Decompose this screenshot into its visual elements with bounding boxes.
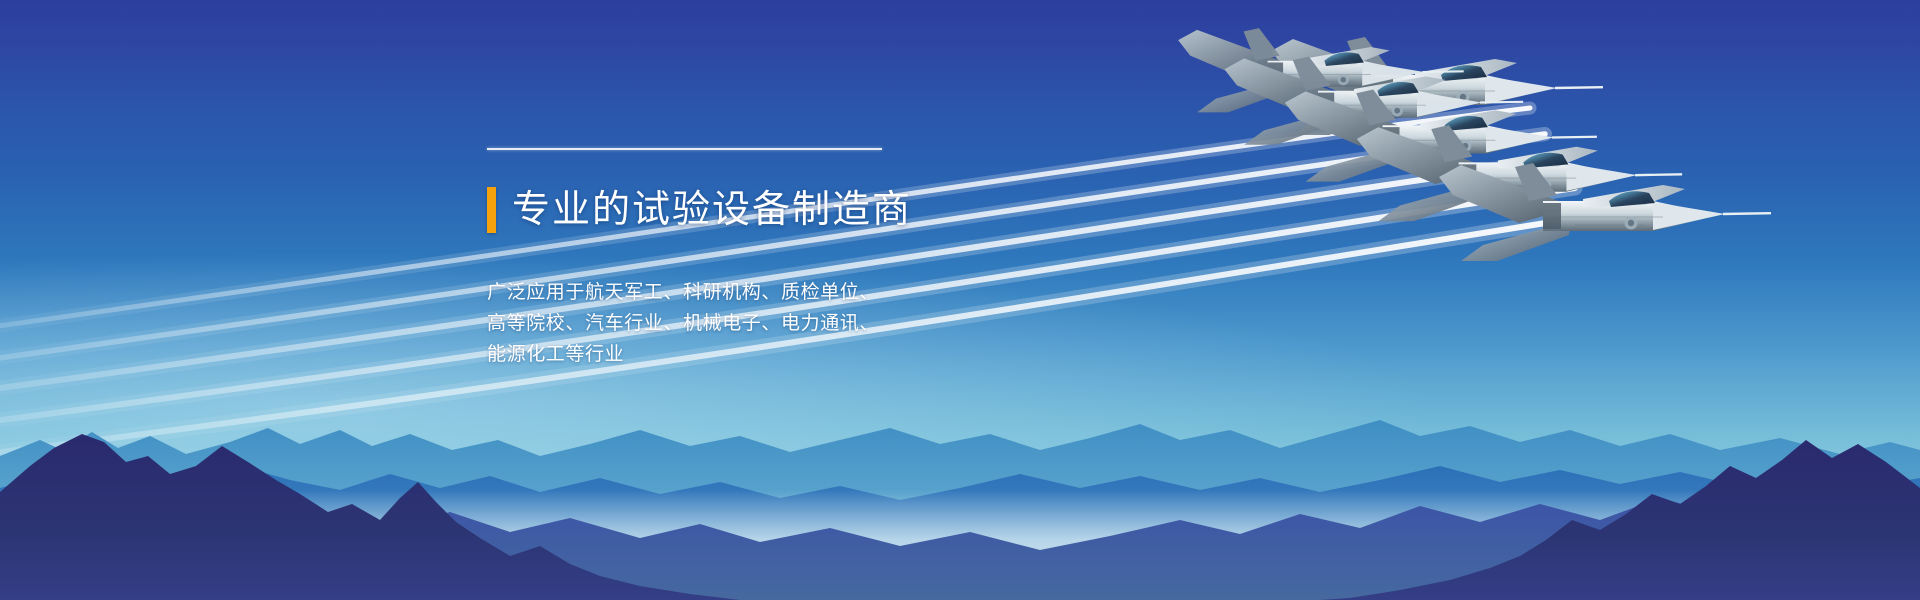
fighter-jet-formation-image [1345, 35, 1905, 315]
hero-banner: 专业的试验设备制造商 广泛应用于航天军工、科研机构、质检单位、 高等院校、汽车行… [0, 0, 1920, 600]
page-title: 专业的试验设备制造商 [512, 187, 912, 233]
banner-copy-block: 专业的试验设备制造商 广泛应用于航天军工、科研机构、质检单位、 高等院校、汽车行… [487, 148, 957, 370]
mountain-range-silhouettes [0, 370, 1920, 600]
headline-divider-rule [487, 148, 882, 150]
orange-accent-bar [487, 187, 496, 233]
headline-row: 专业的试验设备制造商 [487, 162, 957, 259]
subtitle-line-3: 能源化工等行业 [487, 339, 957, 370]
subtitle-line-1: 广泛应用于航天军工、科研机构、质检单位、 [487, 277, 957, 308]
banner-subtitle: 广泛应用于航天军工、科研机构、质检单位、 高等院校、汽车行业、机械电子、电力通讯… [487, 277, 957, 370]
subtitle-line-2: 高等院校、汽车行业、机械电子、电力通讯、 [487, 308, 957, 339]
